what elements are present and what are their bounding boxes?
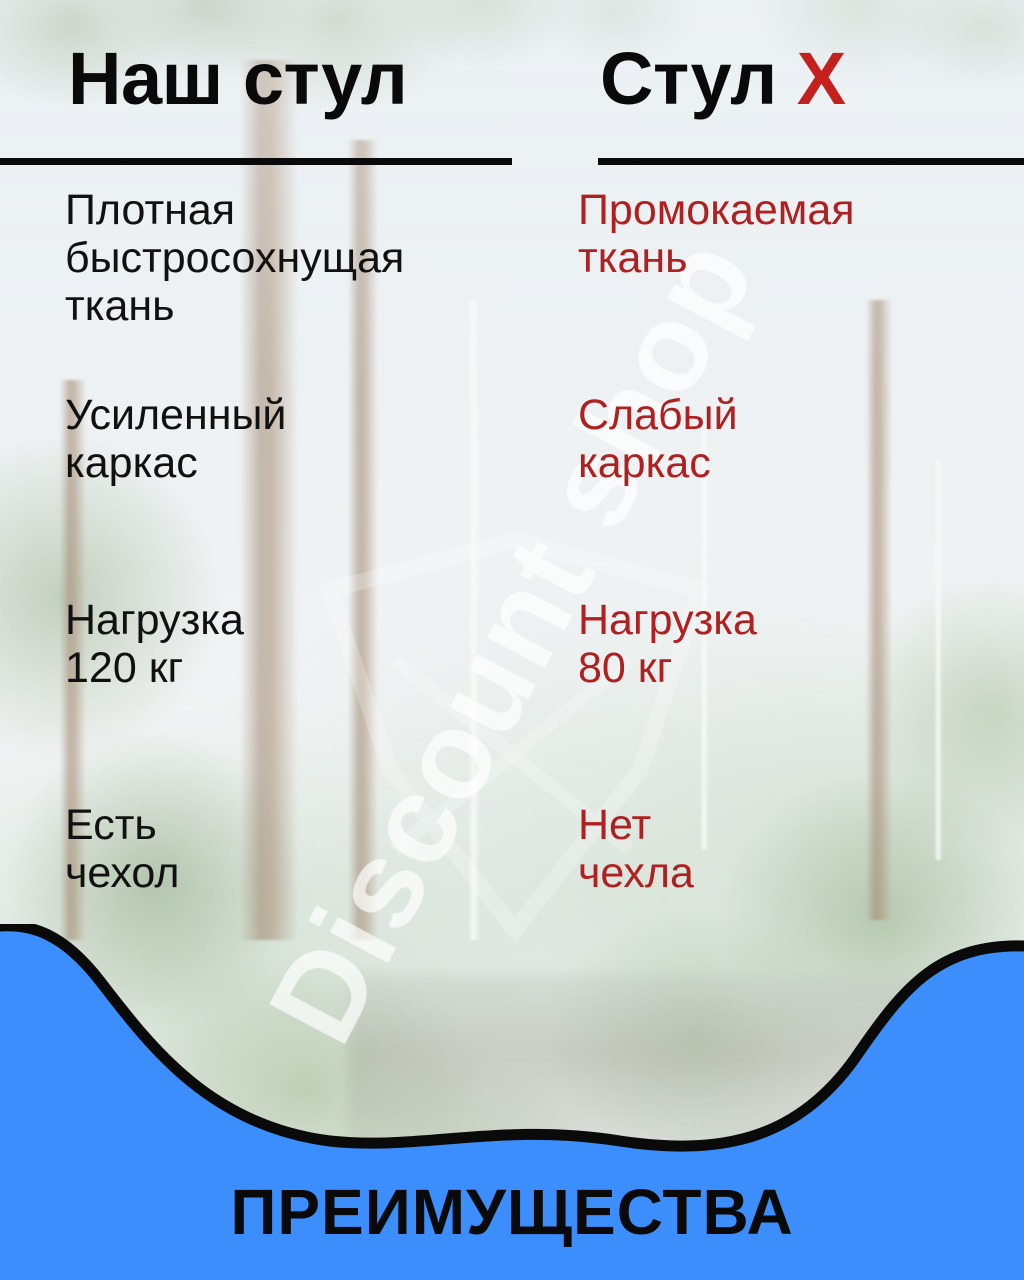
feature-positive: Нагрузка 120 кг: [65, 596, 535, 692]
feature-positive: Плотная быстросохнущая ткань: [65, 186, 535, 330]
feature-negative: Промокаемая ткань: [578, 186, 1018, 282]
divider-right: [598, 158, 1024, 165]
promo-comparison-card: Discount shop Наш стул Стул X Плотная бы…: [0, 0, 1024, 1280]
header-other-chair: Стул X: [600, 42, 846, 116]
column-headers: Наш стул Стул X: [0, 36, 1024, 156]
feature-negative: Слабый каркас: [578, 391, 1018, 487]
table-row: Усиленный каркас Слабый каркас: [0, 391, 1024, 596]
table-row: Плотная быстросохнущая ткань Промокаемая…: [0, 186, 1024, 391]
header-x-mark: X: [797, 37, 846, 120]
divider-left: [0, 158, 512, 165]
header-our-chair: Наш стул: [68, 42, 407, 116]
table-row: Нагрузка 120 кг Нагрузка 80 кг: [0, 596, 1024, 801]
header-other-chair-label: Стул: [600, 37, 797, 120]
feature-positive: Есть чехол: [65, 801, 535, 897]
feature-negative: Нагрузка 80 кг: [578, 596, 1018, 692]
table-row: Есть чехол Нет чехла: [0, 801, 1024, 1006]
feature-negative: Нет чехла: [578, 801, 1018, 897]
comparison-rows: Плотная быстросохнущая ткань Промокаемая…: [0, 186, 1024, 1006]
feature-positive: Усиленный каркас: [65, 391, 535, 487]
